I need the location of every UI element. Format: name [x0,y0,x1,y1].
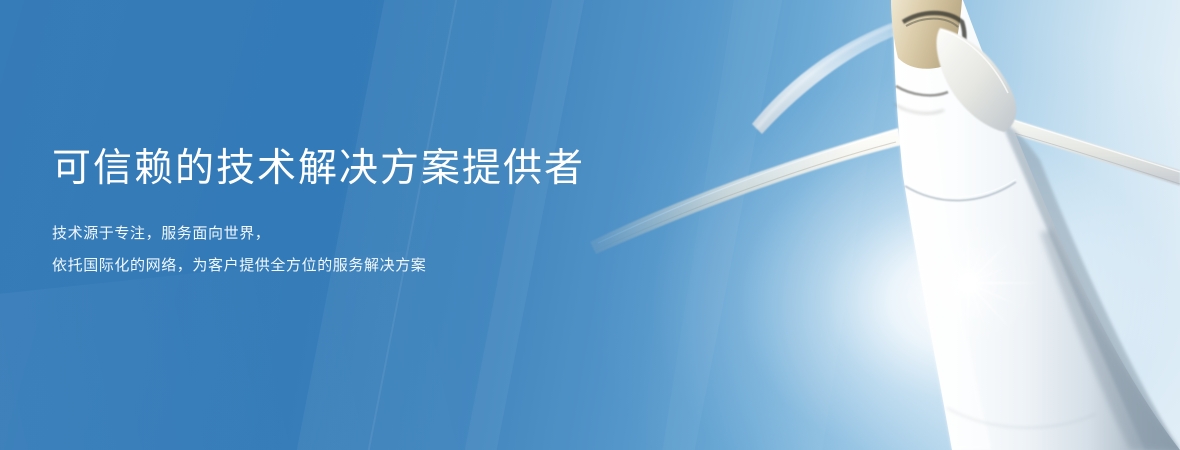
banner-headline: 可信赖的技术解决方案提供者 [52,146,692,192]
banner-copy: 可信赖的技术解决方案提供者 技术源于专注，服务面向世界， 依托国际化的网络，为客… [52,146,692,281]
banner-subtitle-line-1: 技术源于专注，服务面向世界， [52,218,692,250]
banner-subtitle-line-2: 依托国际化的网络，为客户提供全方位的服务解决方案 [52,250,692,282]
banner-subtitle: 技术源于专注，服务面向世界， 依托国际化的网络，为客户提供全方位的服务解决方案 [52,218,692,281]
hero-banner: 可信赖的技术解决方案提供者 技术源于专注，服务面向世界， 依托国际化的网络，为客… [0,0,1180,450]
